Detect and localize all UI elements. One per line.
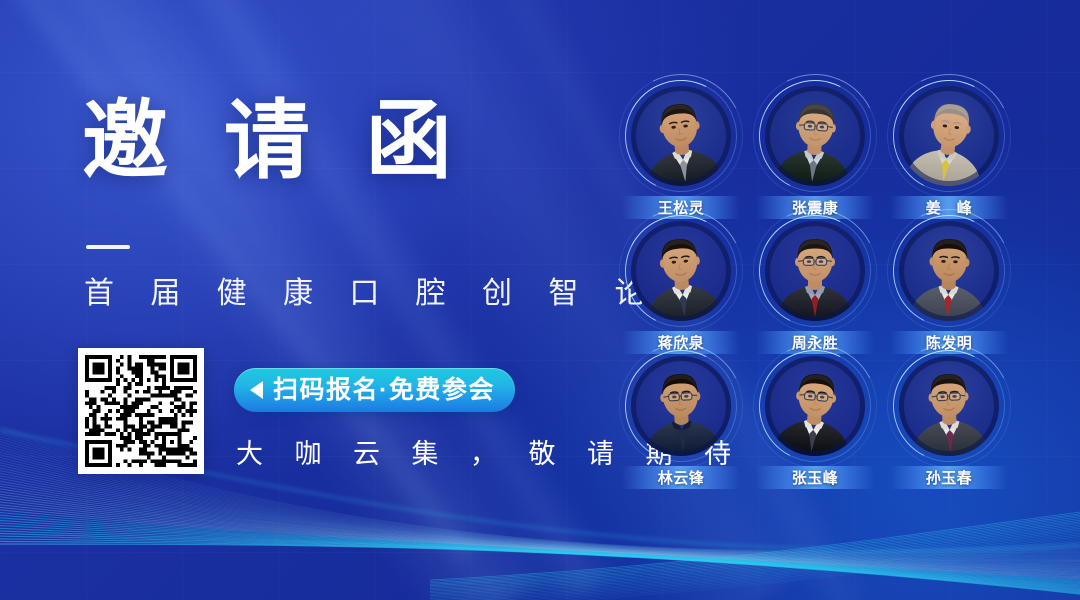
avatar — [899, 86, 999, 186]
left-triangle-icon — [250, 381, 263, 399]
speaker-name: 张玉峰 — [792, 467, 839, 488]
avatar — [765, 221, 865, 321]
speaker-card[interactable]: 张震康 — [748, 86, 882, 221]
speaker-name-plate: 孙玉春 — [890, 466, 1008, 489]
avatar — [899, 356, 999, 456]
avatar — [899, 221, 999, 321]
speaker-card[interactable]: 蒋欣泉 — [614, 221, 748, 356]
avatar-ring — [899, 86, 999, 186]
speaker-card[interactable]: 陈发明 — [882, 221, 1016, 356]
avatar-ring — [631, 86, 731, 186]
avatar-ring — [765, 221, 865, 321]
avatar — [631, 86, 731, 186]
speaker-card[interactable]: 张玉峰 — [748, 356, 882, 491]
avatar-ring — [631, 221, 731, 321]
invitation-poster: 邀 请 函 首 届 健 康 口 腔 创 智 论 坛 扫码报名·免费参会 大 咖 … — [0, 0, 1080, 600]
speaker-name: 林云锋 — [658, 467, 705, 488]
speaker-name: 孙玉春 — [926, 467, 973, 488]
avatar-ring — [765, 86, 865, 186]
speaker-card[interactable]: 王松灵 — [614, 86, 748, 221]
scan-register-button[interactable]: 扫码报名·免费参会 — [234, 368, 515, 412]
avatar — [631, 356, 731, 456]
avatar — [765, 356, 865, 456]
avatar-ring — [899, 221, 999, 321]
qr-code[interactable] — [78, 348, 204, 474]
avatar — [631, 221, 731, 321]
speaker-card[interactable]: 周永胜 — [748, 221, 882, 356]
title-divider — [86, 245, 130, 249]
avatar-ring — [899, 356, 999, 456]
speaker-name-plate: 林云锋 — [622, 466, 740, 489]
speaker-card[interactable]: 林云锋 — [614, 356, 748, 491]
speaker-name-plate: 张玉峰 — [756, 466, 874, 489]
avatar-ring — [631, 356, 731, 456]
scan-register-label: 扫码报名·免费参会 — [273, 378, 495, 403]
qr-code-image — [85, 355, 197, 467]
left-content-panel: 邀 请 函 首 届 健 康 口 腔 创 智 论 坛 扫码报名·免费参会 大 咖 … — [0, 0, 600, 600]
avatar-ring — [765, 356, 865, 456]
page-title: 邀 请 函 — [82, 98, 468, 184]
speaker-card[interactable]: 姜 峰 — [882, 86, 1016, 221]
avatar — [765, 86, 865, 186]
speaker-card[interactable]: 孙玉春 — [882, 356, 1016, 491]
speaker-grid: 王松灵 — [614, 86, 1014, 491]
